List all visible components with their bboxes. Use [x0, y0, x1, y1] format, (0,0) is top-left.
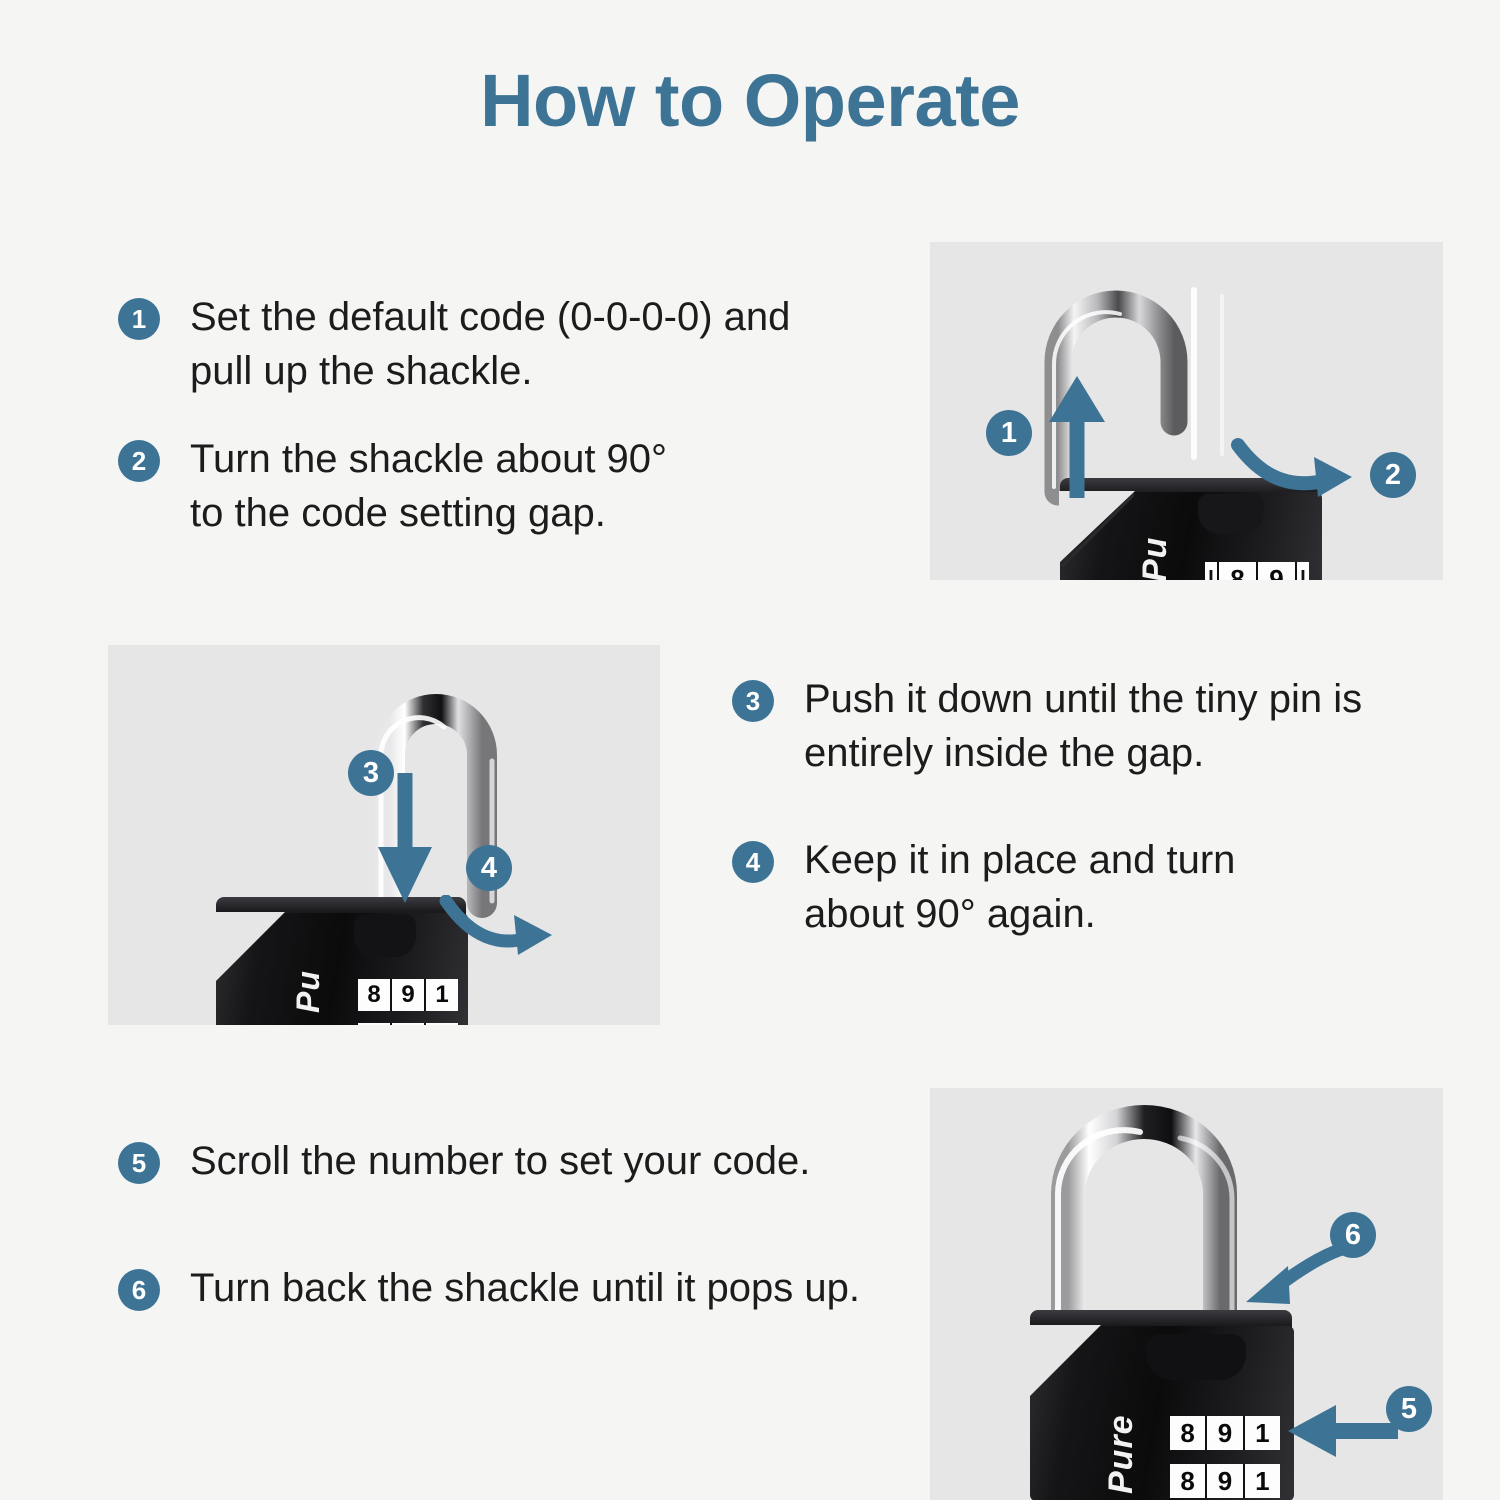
padlock-combination-dial-upper: 8 9 1	[358, 979, 458, 1011]
photo-callout-3: 3	[348, 750, 394, 796]
photo-callout-2: 2	[1370, 452, 1416, 498]
step-item-2: 2 Turn the shackle about 90° to the code…	[118, 432, 908, 540]
step-badge-5: 5	[118, 1142, 160, 1184]
page-title: How to Operate	[0, 60, 1500, 141]
scroll-dial-arrow-icon	[1274, 1396, 1404, 1466]
rotate-right-arrow-icon	[438, 895, 568, 975]
step-item-5: 5 Scroll the number to set your code.	[118, 1134, 958, 1188]
dial-wheel-3[interactable]: |	[1297, 562, 1309, 580]
step-badge-4: 4	[732, 841, 774, 883]
photo-panel-steps-3-4: Pu 8 9 1 8 9 1 3	[108, 645, 660, 1025]
step-badge-6: 6	[118, 1269, 160, 1311]
dial-wheel-lower-0[interactable]: 8	[358, 1023, 392, 1025]
step-text-5: Scroll the number to set your code.	[190, 1134, 810, 1188]
padlock-shackle-recess	[1146, 1334, 1246, 1380]
step-item-1: 1 Set the default code (0-0-0-0) and pul…	[118, 290, 908, 398]
dial-wheel-0[interactable]: 8	[1170, 1416, 1207, 1450]
step-text-3: Push it down until the tiny pin is entir…	[804, 672, 1362, 780]
step-badge-3: 3	[732, 680, 774, 722]
padlock-brand-text: Pu	[1136, 537, 1175, 580]
step-text-6: Turn back the shackle until it pops up.	[190, 1261, 860, 1315]
dial-wheel-0[interactable]: |	[1205, 562, 1219, 580]
photo-panel-steps-1-2: Pu | 8 9 | 1 2	[930, 242, 1443, 580]
step-text-1: Set the default code (0-0-0-0) and pull …	[190, 290, 790, 398]
padlock-combination-dial-upper: 8 9 1	[1170, 1416, 1280, 1450]
padlock-combination-dial-lower: 8 9 1	[358, 1023, 458, 1025]
padlock-brand-text: Pure	[1102, 1414, 1141, 1494]
pull-up-arrow-icon	[1042, 370, 1112, 500]
step-text-4: Keep it in place and turn about 90° agai…	[804, 833, 1235, 941]
dial-wheel-1[interactable]: 9	[392, 979, 426, 1011]
step-item-4: 4 Keep it in place and turn about 90° ag…	[732, 833, 1492, 941]
dial-wheel-lower-2[interactable]: 1	[426, 1023, 458, 1025]
dial-wheel-2[interactable]: 1	[426, 979, 458, 1011]
dial-wheel-lower-1[interactable]: 9	[1207, 1464, 1244, 1498]
step-item-3: 3 Push it down until the tiny pin is ent…	[732, 672, 1492, 780]
dial-wheel-1[interactable]: 9	[1207, 1416, 1244, 1450]
padlock-shackle-recess	[354, 915, 416, 957]
padlock-combination-dial: | 8 9 |	[1205, 562, 1309, 580]
dial-wheel-0[interactable]: 8	[358, 979, 392, 1011]
step-item-6: 6 Turn back the shackle until it pops up…	[118, 1261, 958, 1315]
dial-wheel-2[interactable]: 9	[1258, 562, 1297, 580]
photo-callout-6: 6	[1330, 1212, 1376, 1258]
padlock-combination-dial-lower: 8 9 1	[1170, 1464, 1280, 1498]
step-badge-2: 2	[118, 440, 160, 482]
photo-panel-steps-5-6: Pure 8 9 1 8 9 1 6	[930, 1088, 1443, 1500]
dial-wheel-1[interactable]: 8	[1219, 562, 1258, 580]
photo-callout-4: 4	[466, 845, 512, 891]
dial-wheel-lower-0[interactable]: 8	[1170, 1464, 1207, 1498]
dial-wheel-lower-1[interactable]: 9	[392, 1023, 426, 1025]
photo-callout-5: 5	[1386, 1386, 1432, 1432]
dial-wheel-lower-2[interactable]: 1	[1245, 1464, 1280, 1498]
photo-callout-1: 1	[986, 410, 1032, 456]
padlock-brand-text: Pu	[290, 970, 327, 1013]
step-text-2: Turn the shackle about 90° to the code s…	[190, 432, 667, 540]
step-badge-1: 1	[118, 298, 160, 340]
infographic-page: How to Operate 1 Set the default code (0…	[0, 0, 1500, 1500]
rotate-right-arrow-icon	[1230, 435, 1365, 515]
